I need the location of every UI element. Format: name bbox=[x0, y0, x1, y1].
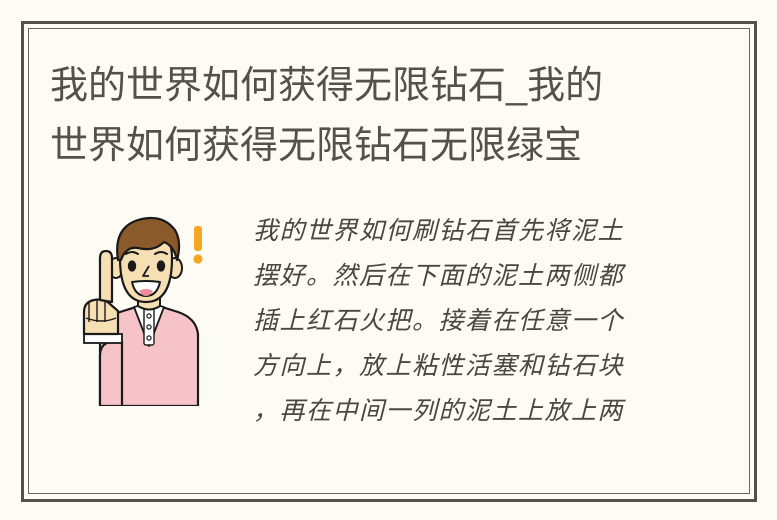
page-title-line-2: 世界如何获得无限钻石无限绿宝 bbox=[50, 116, 710, 176]
article-paragraph-line-3: 插上红石火把。接着在任意一个 bbox=[253, 298, 678, 343]
page-title-line-1: 我的世界如何获得无限钻石_我的 bbox=[50, 56, 710, 116]
article-paragraph-line-1: 我的世界如何刷钻石首先将泥土 bbox=[253, 208, 678, 253]
article-illustration bbox=[58, 206, 218, 406]
article-paragraph-line-5: ，再在中间一列的泥土上放上两 bbox=[253, 388, 678, 433]
article-paragraph-line-4: 方向上，放上粘性活塞和钻石块 bbox=[253, 343, 678, 388]
article-paragraph: 我的世界如何刷钻石首先将泥土 摆好。然后在下面的泥土两侧都 插上红石火把。接着在… bbox=[253, 208, 678, 433]
article-body-block: 我的世界如何刷钻石首先将泥土 摆好。然后在下面的泥土两侧都 插上红石火把。接着在… bbox=[50, 206, 730, 476]
page-title: 我的世界如何获得无限钻石_我的 世界如何获得无限钻石无限绿宝 bbox=[50, 56, 710, 176]
screenshot-page: 我的世界如何获得无限钻石_我的 世界如何获得无限钻石无限绿宝 bbox=[0, 0, 777, 520]
article-content: 我的世界如何获得无限钻石_我的 世界如何获得无限钻石无限绿宝 bbox=[28, 28, 750, 494]
man-pointing-up-icon bbox=[58, 206, 218, 406]
article-paragraph-line-2: 摆好。然后在下面的泥土两侧都 bbox=[253, 253, 678, 298]
